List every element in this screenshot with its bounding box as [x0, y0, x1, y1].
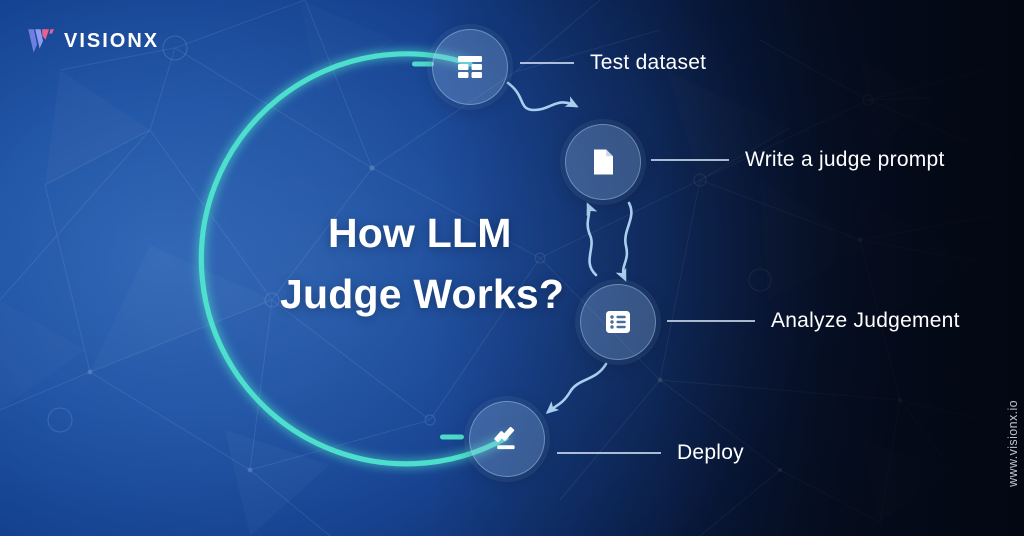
step-label-text-3: Analyze Judgement	[771, 309, 960, 333]
step-label-text-2: Write a judge prompt	[745, 148, 945, 172]
connector-line-4	[557, 452, 661, 454]
step-label-text-4: Deploy	[677, 441, 744, 465]
step-node-deploy[interactable]	[469, 401, 545, 477]
gavel-icon	[491, 423, 523, 455]
title-line-2: Judge Works?	[280, 264, 610, 325]
visionx-logo-text: VISIONX	[64, 31, 159, 51]
step-label-test-dataset: Test dataset	[520, 51, 706, 75]
document-icon	[587, 146, 619, 178]
step-label-write-judge-prompt: Write a judge prompt	[651, 148, 945, 172]
connector-line-1	[520, 62, 574, 64]
visionx-logo[interactable]: VISIONX	[27, 28, 159, 54]
step-node-write-judge-prompt[interactable]	[565, 124, 641, 200]
step-label-text-1: Test dataset	[590, 51, 706, 75]
connector-line-2	[651, 159, 729, 161]
table-icon	[454, 51, 486, 83]
page-title: How LLM Judge Works?	[280, 203, 610, 324]
step-label-analyze-judgement: Analyze Judgement	[667, 309, 960, 333]
step-node-test-dataset[interactable]	[432, 29, 508, 105]
title-line-1: How LLM	[280, 203, 610, 264]
infographic-canvas: VISIONX How LLM Judge Works?	[0, 0, 1024, 536]
website-url[interactable]: www.visionx.io	[1006, 400, 1020, 487]
connector-line-3	[667, 320, 755, 322]
step-node-analyze-judgement[interactable]	[580, 284, 656, 360]
step-label-deploy: Deploy	[557, 441, 744, 465]
visionx-logo-mark	[27, 28, 55, 54]
list-icon	[602, 306, 634, 338]
